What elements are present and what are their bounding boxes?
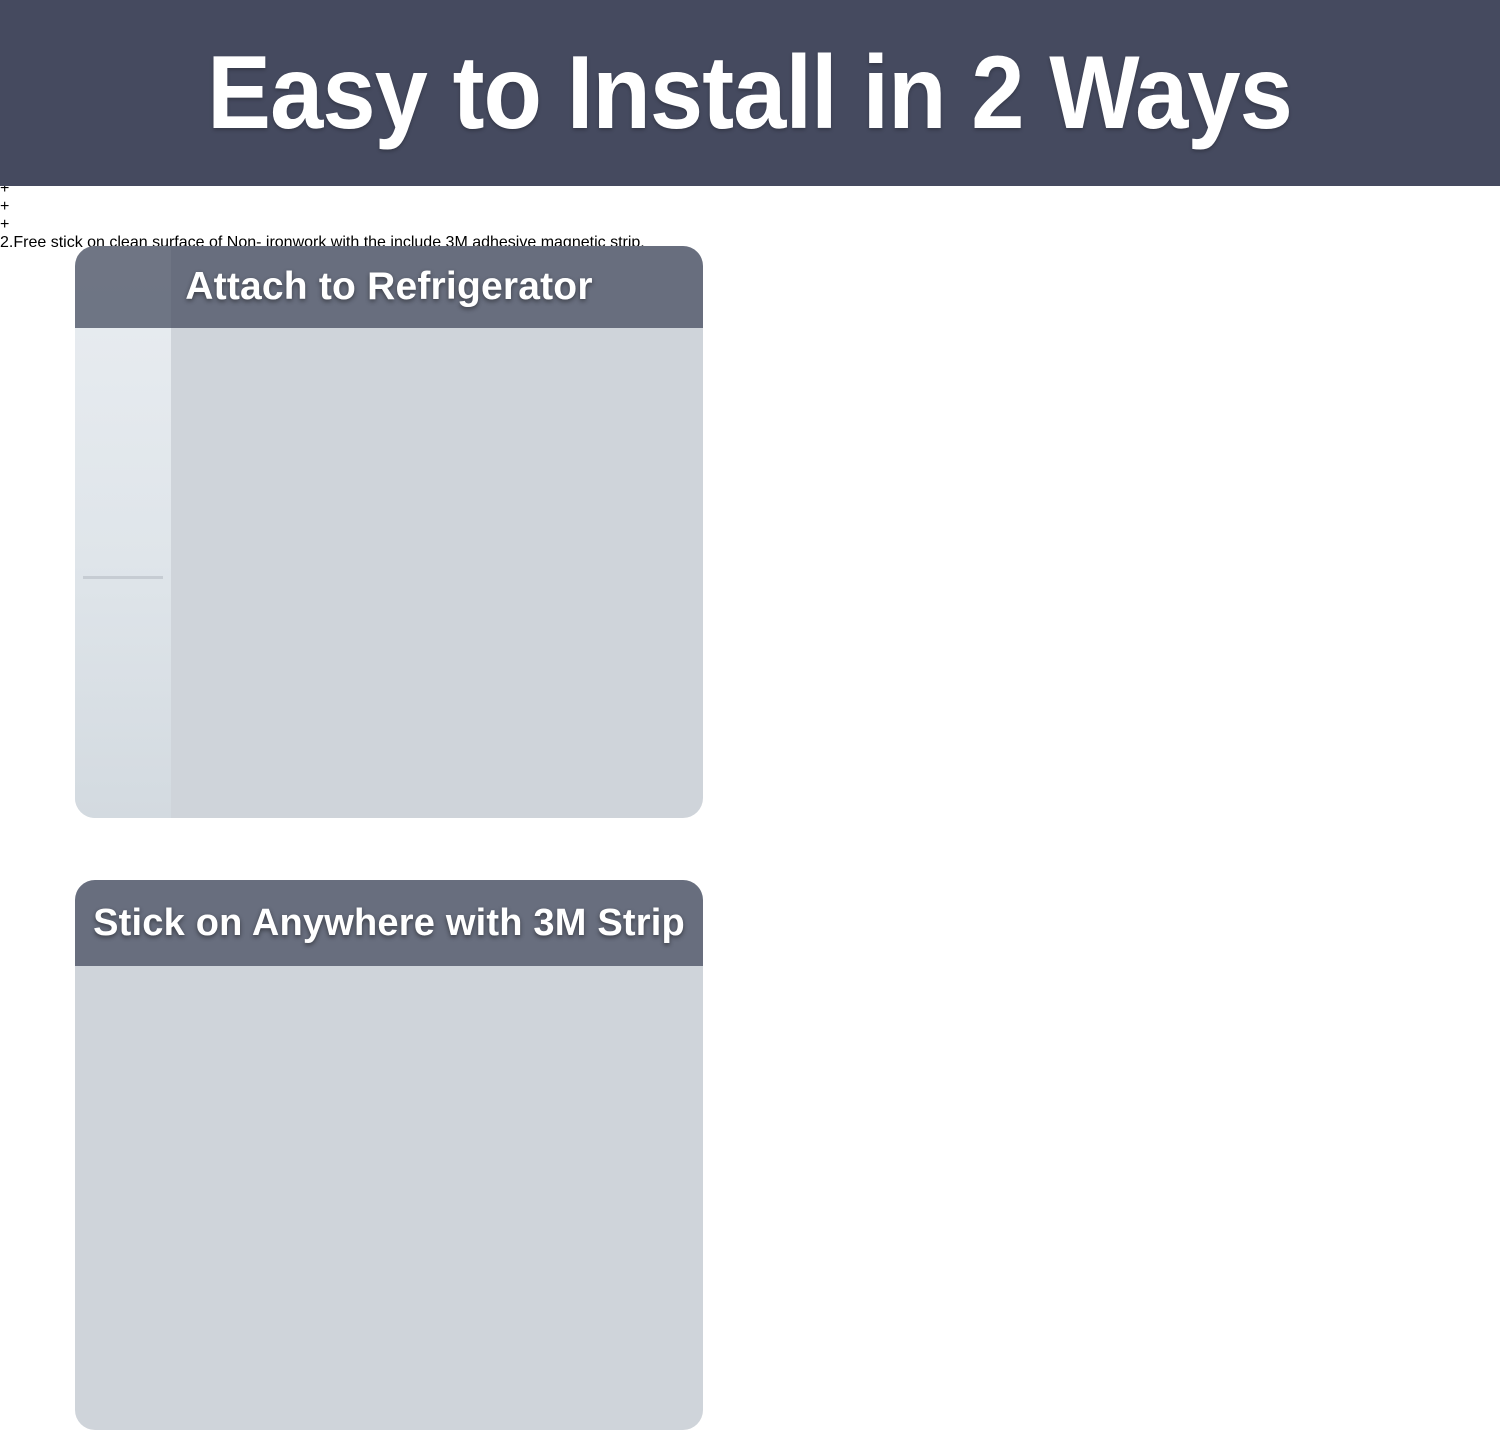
cabinet-handle-4 <box>75 1356 703 1430</box>
page-title: Easy to Install in 2 Ways <box>208 41 1293 145</box>
polarity-plus-right: + <box>0 216 1500 234</box>
mullion-v2 <box>75 1006 79 1128</box>
cabinet-handle-1 <box>75 1132 703 1204</box>
panel-caption-text: Stick on Anywhere with 3M Strip <box>75 902 703 945</box>
panel-caption-text: Attach to Refrigerator <box>75 265 703 309</box>
polarity-plus-left: + <box>0 198 1500 216</box>
cabinet-handle-3 <box>75 1278 703 1356</box>
photo-panel-kitchen: Stick on Anywhere with 3M Strip <box>75 880 703 1430</box>
wall-left <box>75 246 171 818</box>
panel-caption-bar: Stick on Anywhere with 3M Strip <box>75 880 703 966</box>
cabinet-handle-2 <box>75 1204 703 1278</box>
panel-caption-bar: Attach to Refrigerator <box>75 246 703 328</box>
page-header: Easy to Install in 2 Ways <box>0 0 1500 186</box>
magnet-icon: + + <box>0 198 1500 234</box>
photo-panel-refrigerator: GOOD VEG Attach to Refrigerator <box>75 246 703 818</box>
refrigerator-scene: GOOD VEG <box>75 246 703 818</box>
mullion-h1 <box>75 1002 181 1006</box>
